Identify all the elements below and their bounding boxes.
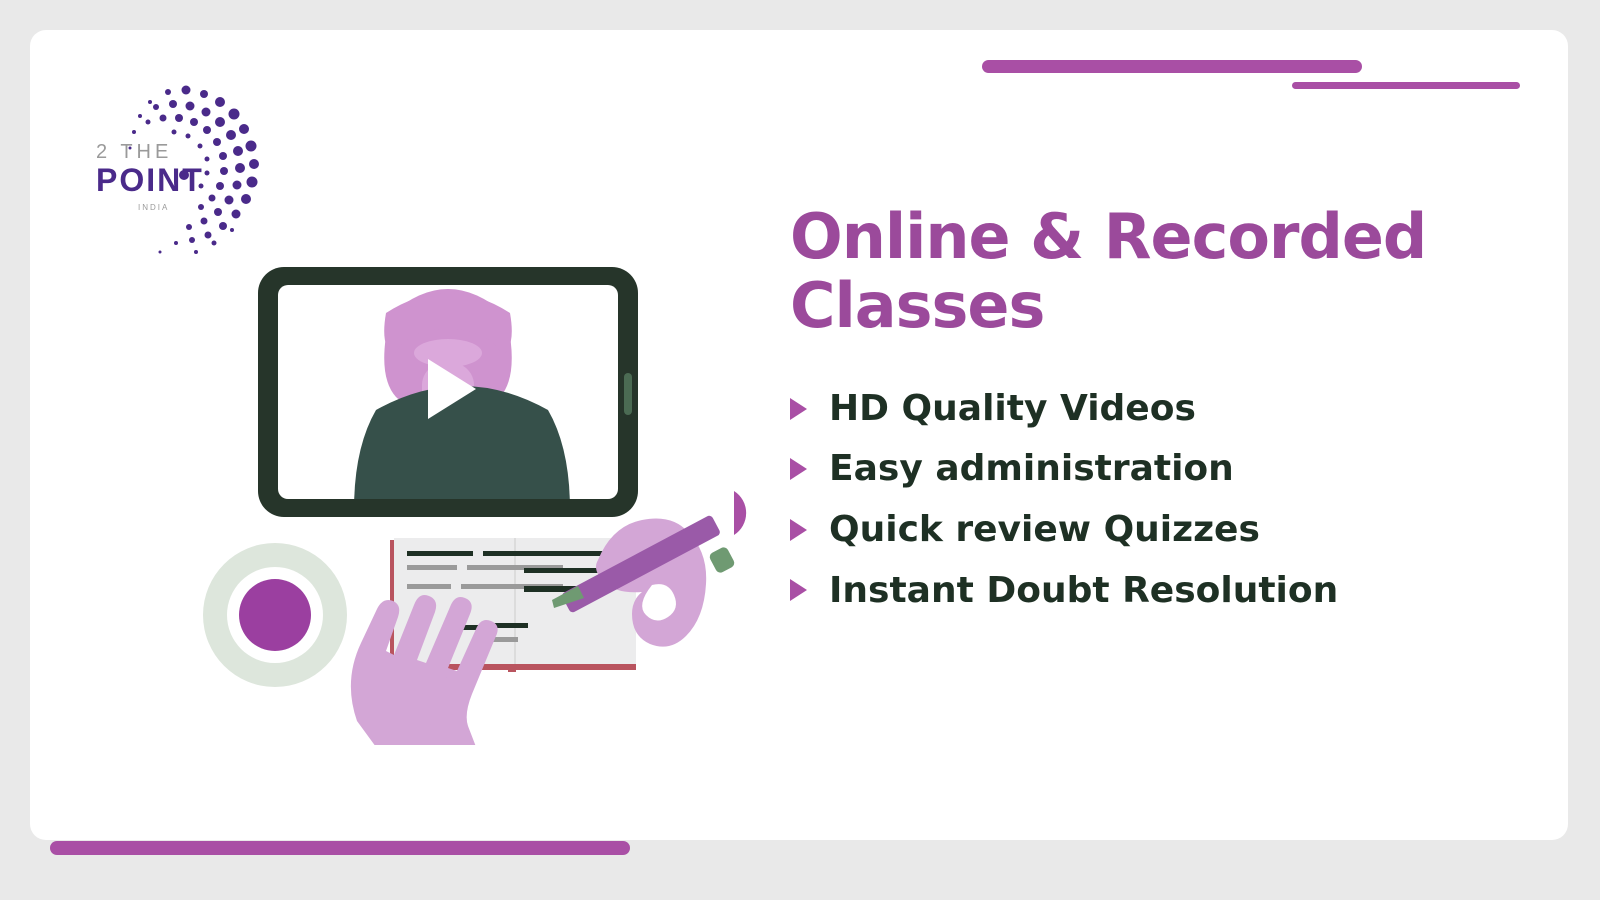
slide-content: Online & Recorded Classes HD Quality Vid… bbox=[790, 202, 1520, 631]
decor-bar-bottom-thick bbox=[50, 841, 630, 855]
list-item-label: Easy administration bbox=[829, 449, 1234, 489]
list-item[interactable]: HD Quality Videos bbox=[790, 389, 1520, 429]
triangle-right-icon bbox=[790, 398, 807, 420]
decor-bar-top-thick bbox=[982, 60, 1362, 73]
logo-line-3: INDIA bbox=[138, 203, 226, 212]
page-title: Online & Recorded Classes bbox=[790, 202, 1520, 341]
list-item-label: HD Quality Videos bbox=[829, 389, 1196, 429]
list-item[interactable]: Instant Doubt Resolution bbox=[790, 571, 1520, 611]
triangle-right-icon bbox=[790, 458, 807, 480]
list-item-label: Instant Doubt Resolution bbox=[829, 571, 1338, 611]
slide-canvas: 2 THE POINT INDIA bbox=[0, 0, 1600, 900]
online-class-illustration bbox=[200, 255, 760, 745]
list-item[interactable]: Quick review Quizzes bbox=[790, 510, 1520, 550]
arc-accent-icon bbox=[734, 491, 746, 535]
triangle-right-icon bbox=[790, 519, 807, 541]
triangle-right-icon bbox=[790, 579, 807, 601]
tablet-video-player bbox=[258, 267, 638, 517]
list-item-label: Quick review Quizzes bbox=[829, 510, 1260, 550]
logo-line-1: 2 THE bbox=[96, 142, 226, 162]
list-item[interactable]: Easy administration bbox=[790, 449, 1520, 489]
brand-logo[interactable]: 2 THE POINT INDIA bbox=[88, 80, 278, 260]
slide-card: 2 THE POINT INDIA bbox=[30, 30, 1568, 840]
logo-wordmark: 2 THE POINT INDIA bbox=[96, 142, 226, 212]
circle-badge-icon bbox=[203, 543, 347, 687]
feature-bullet-list: HD Quality Videos Easy administration Qu… bbox=[790, 389, 1520, 610]
decor-bar-top-thin bbox=[1292, 82, 1520, 89]
logo-line-2: POINT bbox=[96, 162, 226, 199]
